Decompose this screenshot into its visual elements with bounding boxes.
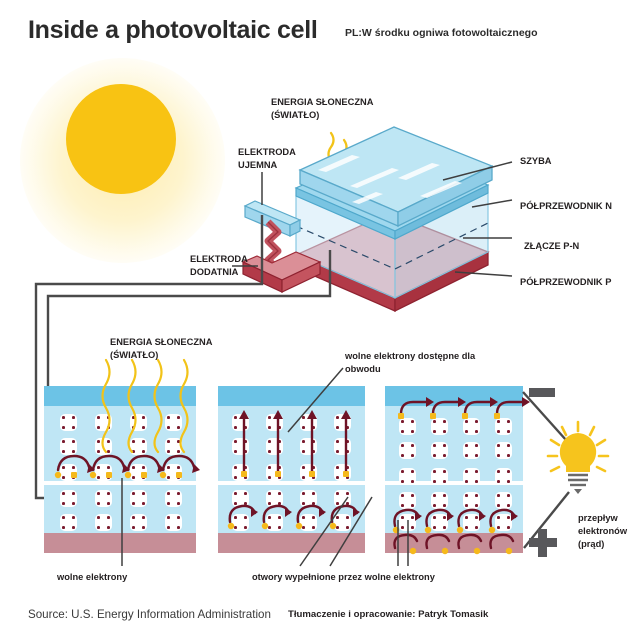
plus-terminal-icon-vertical (538, 529, 547, 557)
infographic-root: Inside a photovoltaic cell PL:W środku o… (0, 0, 640, 633)
credit-text: Tłumaczenie i opracowanie: Patryk Tomasi… (288, 609, 488, 620)
source-text: Source: U.S. Energy Information Administ… (28, 608, 271, 621)
lightbulb-icon (548, 422, 608, 494)
minus-terminal-icon (529, 388, 555, 397)
